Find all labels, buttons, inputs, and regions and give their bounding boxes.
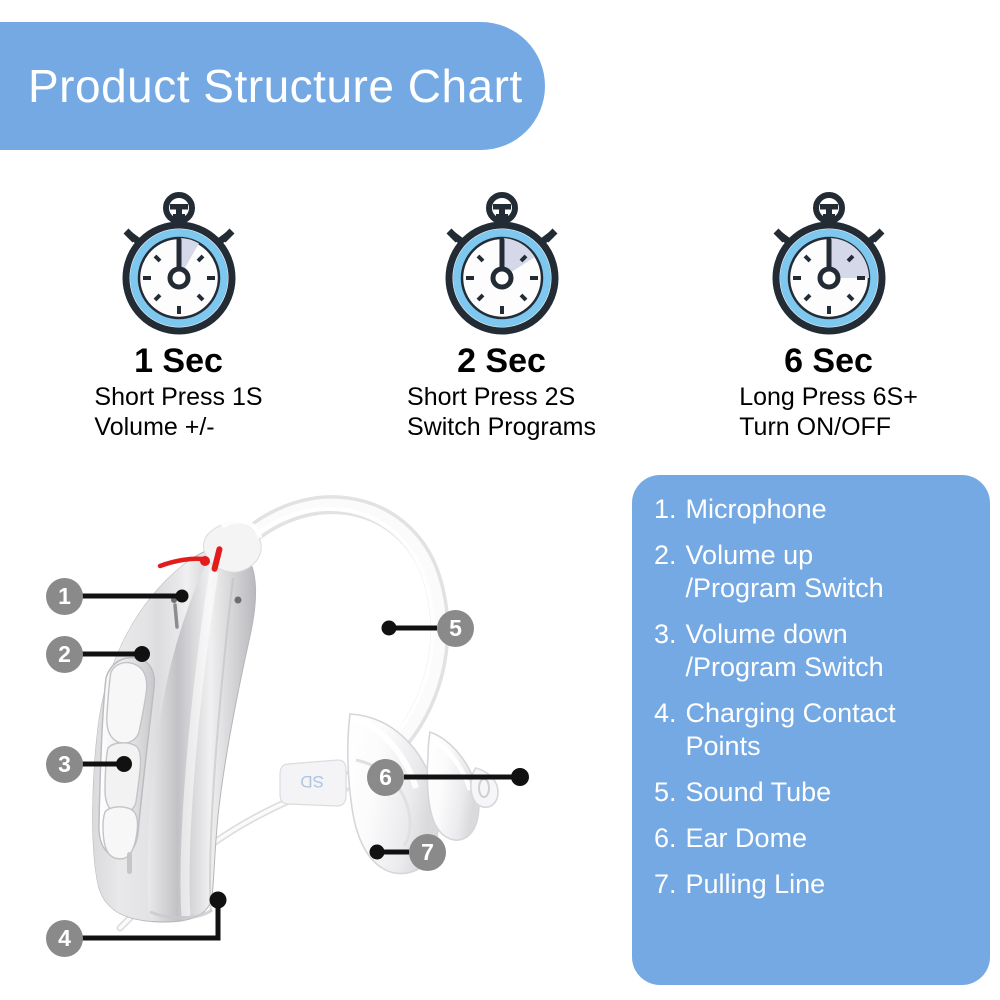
timing-heading: 2 Sec bbox=[335, 342, 668, 380]
timing-card-6sec: 6 Sec Long Press 6S+ Turn ON/OFF bbox=[662, 190, 995, 450]
legend-number: 7. bbox=[654, 868, 677, 901]
timing-caption-6sec: 6 Sec Long Press 6S+ Turn ON/OFF bbox=[662, 342, 995, 442]
timing-line-1: Short Press 2S bbox=[407, 382, 596, 412]
legend-label: Sound Tube bbox=[686, 776, 974, 809]
stopwatch-icon bbox=[754, 190, 904, 340]
timing-heading: 6 Sec bbox=[662, 342, 995, 380]
timing-line-1: Short Press 1S bbox=[94, 382, 262, 412]
legend-item-6: 6. Ear Dome bbox=[632, 822, 990, 855]
stopwatch-icon bbox=[427, 190, 577, 340]
timing-line-2: Switch Programs bbox=[407, 412, 596, 442]
legend-item-1: 1. Microphone bbox=[632, 493, 990, 526]
legend-number: 4. bbox=[654, 697, 677, 730]
legend-label: Volume up /Program Switch bbox=[686, 539, 974, 605]
legend-number: 3. bbox=[654, 618, 677, 651]
svg-text:SD: SD bbox=[300, 772, 324, 791]
legend-number: 2. bbox=[654, 539, 677, 572]
legend-label: Volume down /Program Switch bbox=[686, 618, 974, 684]
callout-marker-6[interactable]: 6 bbox=[367, 759, 404, 796]
hearing-aid-illustration: SD bbox=[0, 460, 640, 1000]
legend-label: Charging Contact Points bbox=[686, 697, 974, 763]
callout-marker-1[interactable]: 1 bbox=[46, 578, 83, 615]
legend-item-3: 3. Volume down /Program Switch bbox=[632, 618, 990, 684]
legend-number: 6. bbox=[654, 822, 677, 855]
legend-label: Ear Dome bbox=[686, 822, 974, 855]
product-structure-infographic: Product Structure Chart bbox=[0, 0, 1000, 1000]
button-timing-row: 1 Sec Short Press 1S Volume +/- bbox=[0, 190, 1000, 450]
legend-item-4: 4. Charging Contact Points bbox=[632, 697, 990, 763]
header-banner: Product Structure Chart bbox=[0, 22, 545, 150]
timing-line-2: Volume +/- bbox=[94, 412, 262, 442]
legend-label: Microphone bbox=[686, 493, 974, 526]
parts-legend-panel: 1. Microphone 2. Volume up /Program Swit… bbox=[632, 475, 990, 985]
legend-number: 1. bbox=[654, 493, 677, 526]
legend-item-5: 5. Sound Tube bbox=[632, 776, 990, 809]
timing-heading: 1 Sec bbox=[12, 342, 345, 380]
page-title: Product Structure Chart bbox=[28, 59, 523, 113]
timing-line-2: Turn ON/OFF bbox=[739, 412, 918, 442]
timing-line-1: Long Press 6S+ bbox=[739, 382, 918, 412]
stopwatch-icon bbox=[104, 190, 254, 340]
callout-marker-3[interactable]: 3 bbox=[46, 746, 83, 783]
callout-marker-2[interactable]: 2 bbox=[46, 636, 83, 673]
callout-marker-4[interactable]: 4 bbox=[46, 920, 83, 957]
callout-marker-5[interactable]: 5 bbox=[437, 610, 474, 647]
timing-card-1sec: 1 Sec Short Press 1S Volume +/- bbox=[12, 190, 345, 450]
legend-item-2: 2. Volume up /Program Switch bbox=[632, 539, 990, 605]
callout-marker-7[interactable]: 7 bbox=[409, 834, 446, 871]
legend-item-7: 7. Pulling Line bbox=[632, 868, 990, 901]
legend-number: 5. bbox=[654, 776, 677, 809]
timing-caption-2sec: 2 Sec Short Press 2S Switch Programs bbox=[335, 342, 668, 442]
timing-card-2sec: 2 Sec Short Press 2S Switch Programs bbox=[335, 190, 668, 450]
timing-caption-1sec: 1 Sec Short Press 1S Volume +/- bbox=[12, 342, 345, 442]
legend-label: Pulling Line bbox=[686, 868, 974, 901]
